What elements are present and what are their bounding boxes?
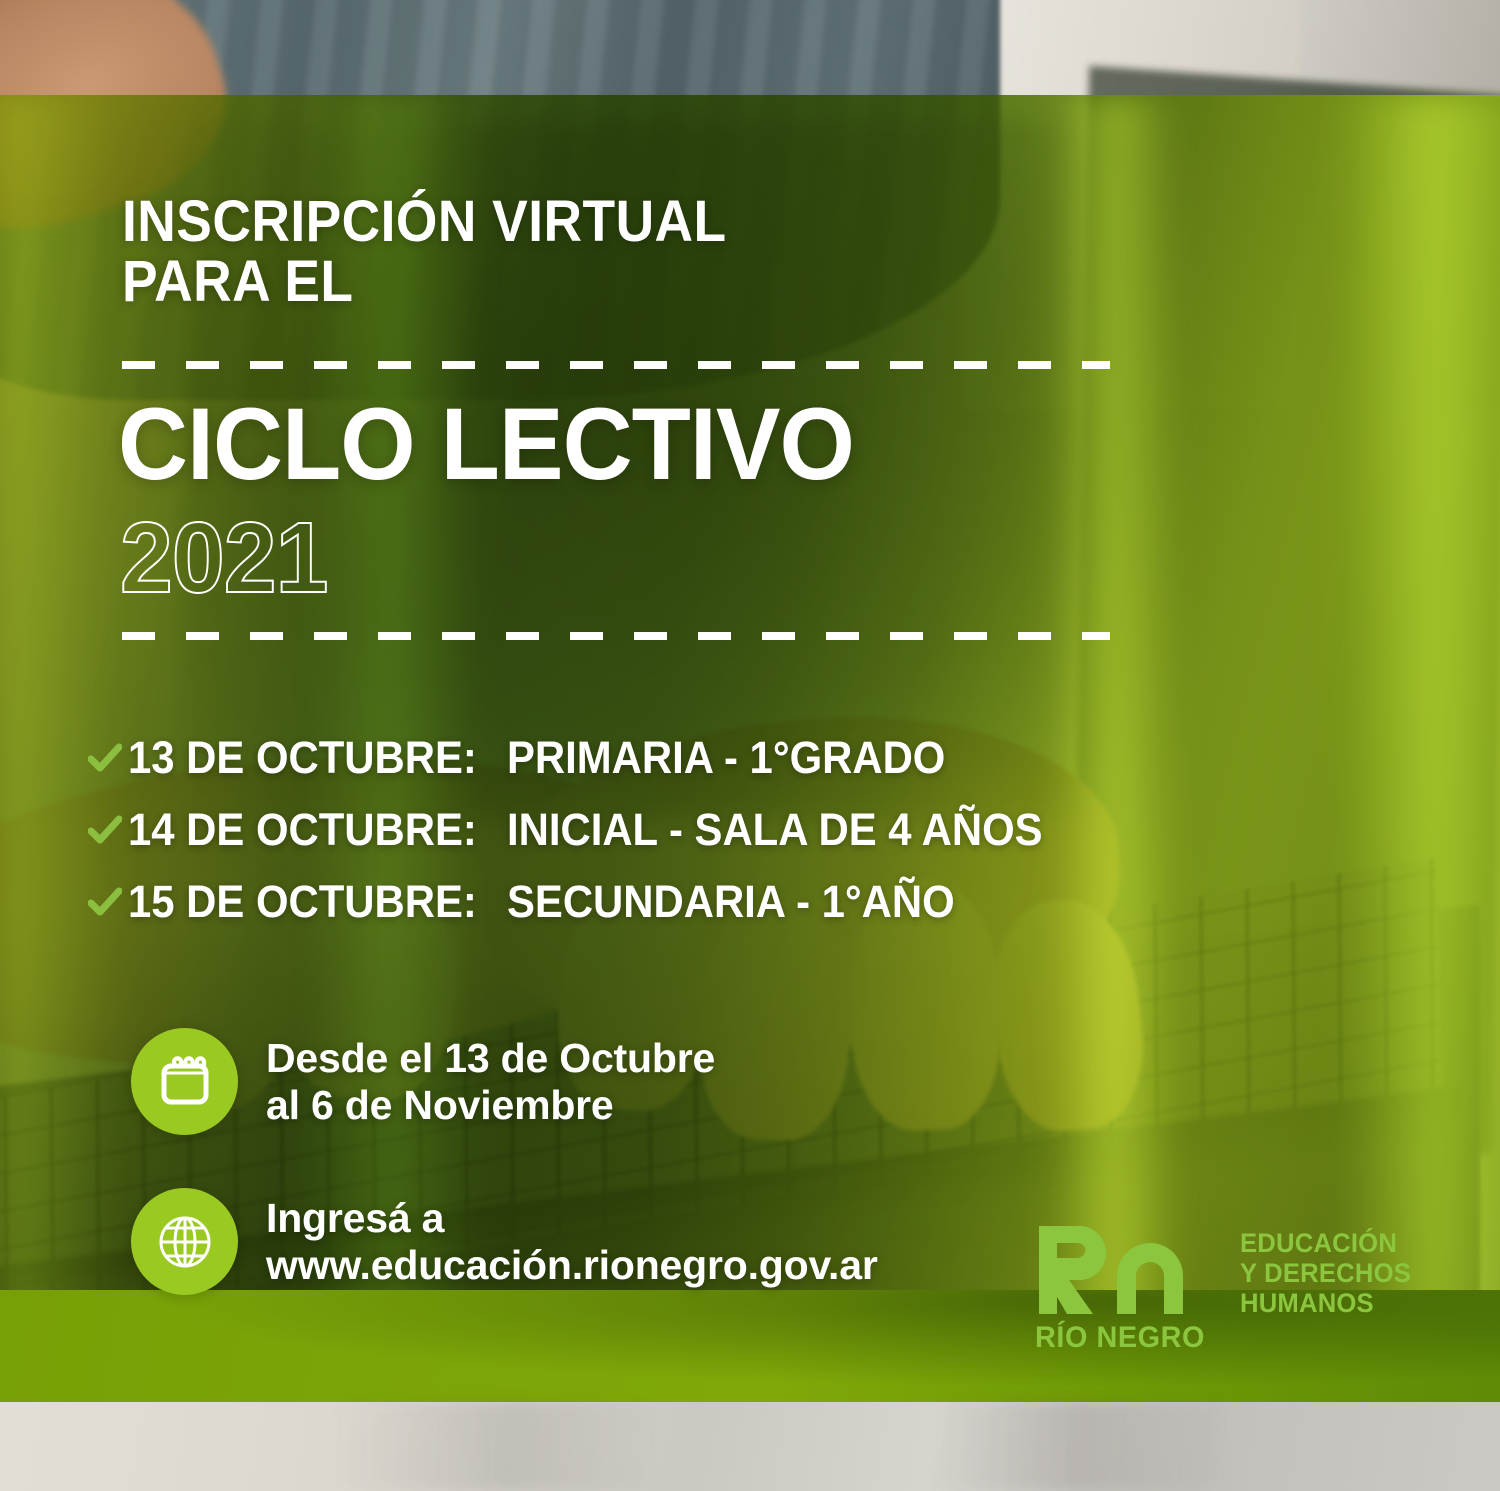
logo-ministry-name: EDUCACIÓN Y DERECHOS HUMANOS (1240, 1228, 1411, 1318)
poster-content: INSCRIPCIÓN VIRTUAL PARA EL CICLO LECTIV… (0, 0, 1500, 1491)
logo-province-name: RÍO NEGRO (1035, 1321, 1205, 1355)
list-item-category: SECUNDARIA - 1°AÑO (507, 876, 955, 928)
globe-icon-badge (131, 1188, 238, 1295)
check-icon (88, 743, 122, 773)
check-icon (88, 815, 122, 845)
calendar-icon (155, 1052, 215, 1112)
website-info-block: Ingresá a www.educación.rionegro.gov.ar (131, 1188, 878, 1295)
list-item-date: 14 DE OCTUBRE: (128, 804, 477, 856)
website-text: Ingresá a www.educación.rionegro.gov.ar (266, 1195, 878, 1289)
poster: INSCRIPCIÓN VIRTUAL PARA EL CICLO LECTIV… (0, 0, 1500, 1491)
list-item: 15 DE OCTUBRE: SECUNDARIA - 1°AÑO (88, 866, 1338, 938)
dashed-divider-bottom (122, 632, 1110, 640)
dates-list: 13 DE OCTUBRE: PRIMARIA - 1°GRADO 14 DE … (88, 722, 1338, 938)
list-item-category: INICIAL - SALA DE 4 AÑOS (507, 804, 1043, 856)
period-text: Desde el 13 de Octubre al 6 de Noviembre (266, 1035, 715, 1129)
rn-monogram-icon (1035, 1222, 1193, 1314)
list-item-date: 15 DE OCTUBRE: (128, 876, 477, 928)
globe-icon (154, 1211, 216, 1273)
period-info-block: Desde el 13 de Octubre al 6 de Noviembre (131, 1028, 715, 1135)
kicker-heading: INSCRIPCIÓN VIRTUAL PARA EL (122, 192, 727, 312)
list-item: 13 DE OCTUBRE: PRIMARIA - 1°GRADO (88, 722, 1338, 794)
year-outline-title: 2021 (120, 508, 328, 608)
rio-negro-logo: RÍO NEGRO EDUCACIÓN Y DERECHOS HUMANOS (1035, 1222, 1420, 1355)
dashed-divider-top (122, 361, 1110, 369)
calendar-icon-badge (131, 1028, 238, 1135)
list-item: 14 DE OCTUBRE: INICIAL - SALA DE 4 AÑOS (88, 794, 1338, 866)
page-title: CICLO LECTIVO (118, 393, 854, 495)
list-item-date: 13 DE OCTUBRE: (128, 732, 477, 784)
check-icon (88, 887, 122, 917)
list-item-category: PRIMARIA - 1°GRADO (507, 732, 945, 784)
